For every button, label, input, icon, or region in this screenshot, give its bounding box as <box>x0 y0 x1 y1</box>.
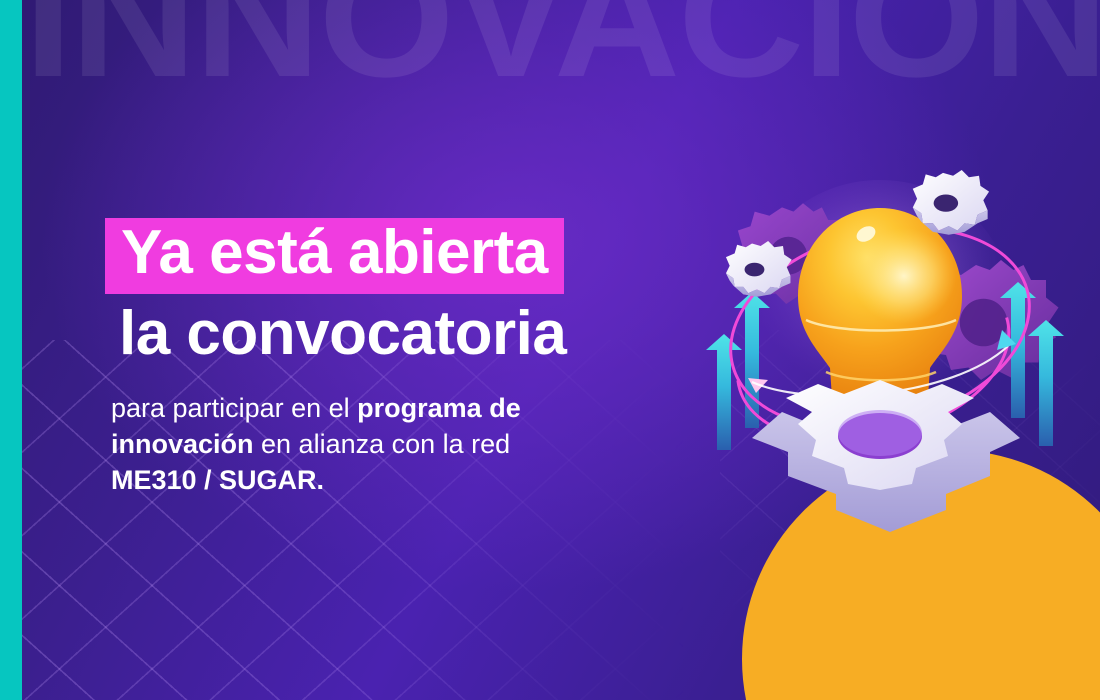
teal-accent-bar <box>0 0 22 700</box>
body-bold-3: ME310 / SUGAR. <box>111 465 324 495</box>
headline-highlight-box: Ya está abierta <box>105 218 564 294</box>
lightbulb-innovation-illustration <box>690 150 1070 550</box>
headline-line-1: Ya está abierta <box>121 222 548 284</box>
promo-banner: INNOVACIÓN <box>0 0 1100 700</box>
headline-line-2: la convocatoria <box>119 302 745 365</box>
headline-block: Ya está abierta la convocatoria para par… <box>105 218 745 499</box>
body-part-3: en alianza con la red <box>254 429 511 459</box>
body-part-1: para participar en el <box>111 393 357 423</box>
body-bold-1: programa <box>357 393 482 423</box>
body-copy: para participar en el programa de innova… <box>111 391 581 499</box>
background-watermark-text: INNOVACIÓN <box>24 0 1100 102</box>
large-white-gear-base <box>752 380 1020 532</box>
